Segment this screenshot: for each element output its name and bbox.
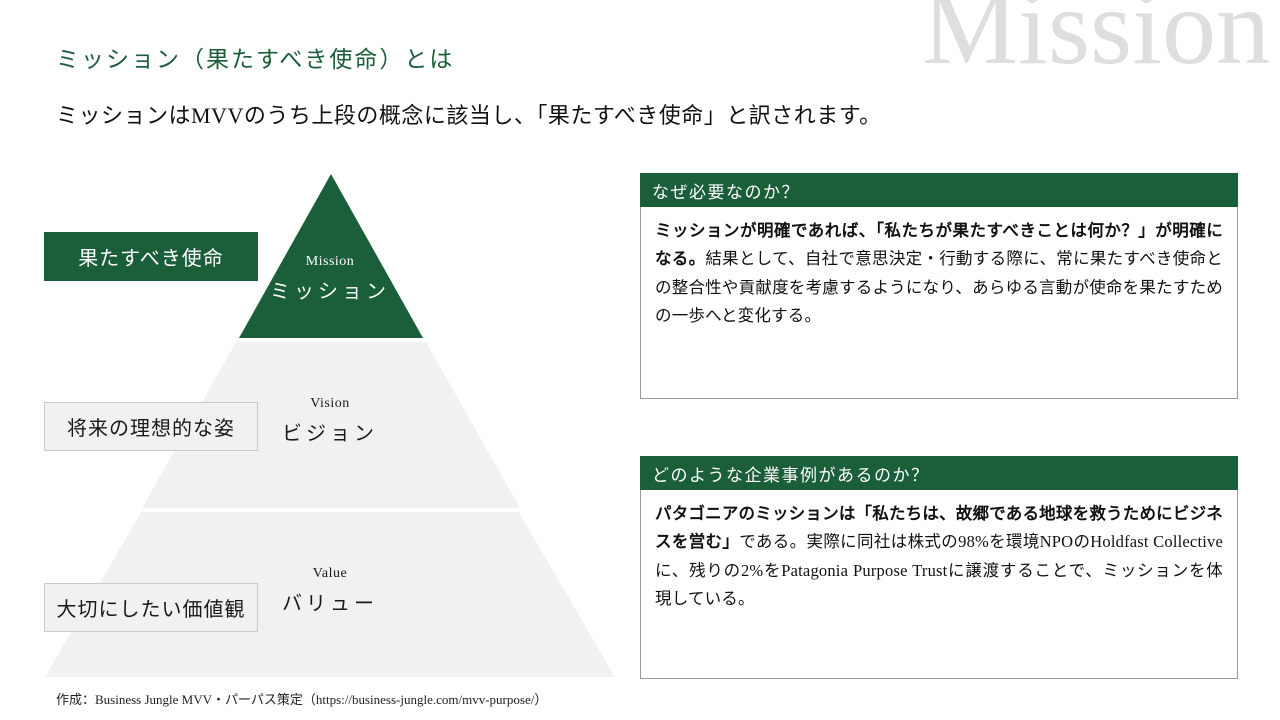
panel-company-examples-body: パタゴニアのミッションは「私たちは、故郷である地球を救うためにビジネスを営む」で… — [640, 490, 1238, 679]
panel-why-needed: なぜ必要なのか？ ミッションが明確であれば、「私たちが果たすべきことは何か？」が… — [640, 173, 1238, 399]
panel-company-examples-heading: どのような企業事例があるのか？ — [640, 456, 1238, 490]
side-label-vision: 将来の理想的な姿 — [44, 402, 258, 451]
pyramid-label-mission-jp: ミッション — [210, 277, 450, 307]
panel-why-needed-body-rest: 結果として、自社で意思決定・行動する際に、常に果たすべき使命との整合性や貢献度を… — [655, 249, 1223, 325]
mission-watermark: Mission — [922, 0, 1270, 82]
side-label-value: 大切にしたい価値観 — [44, 583, 258, 632]
panel-company-examples-body-rest: である。実際に同社は株式の98%を環境NPOのHoldfast Collecti… — [655, 532, 1223, 608]
panel-why-needed-body: ミッションが明確であれば、「私たちが果たすべきことは何か？」が明確になる。結果と… — [640, 207, 1238, 399]
panel-company-examples: どのような企業事例があるのか？ パタゴニアのミッションは「私たちは、故郷である地… — [640, 456, 1238, 679]
panel-why-needed-heading: なぜ必要なのか？ — [640, 173, 1238, 207]
slide-root: Mission ミッション（果たすべき使命）とは ミッションはMVVのうち上段の… — [0, 0, 1280, 720]
side-label-mission: 果たすべき使命 — [44, 232, 258, 281]
source-credit: 作成：Business Jungle MVV・パーパス策定（https://bu… — [56, 689, 547, 708]
pyramid-label-value-en: Value — [210, 566, 450, 583]
